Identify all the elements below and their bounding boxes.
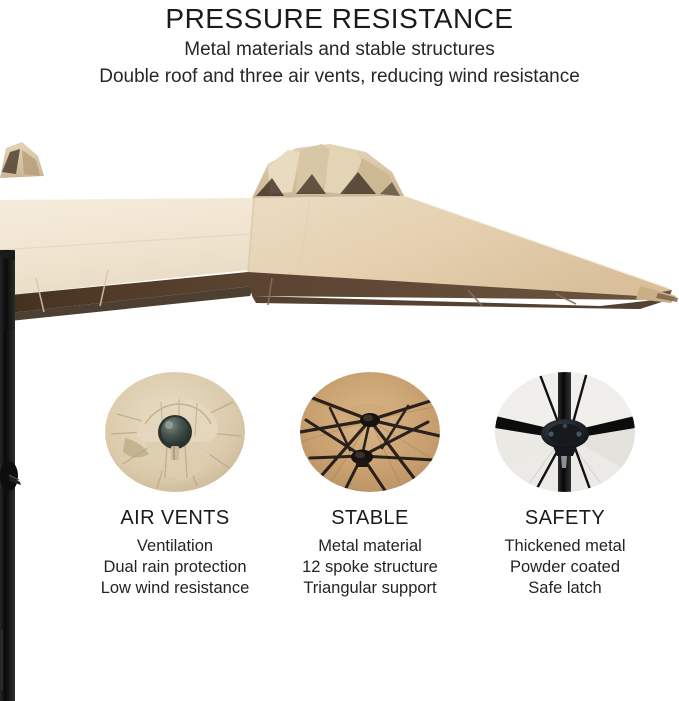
air-vent-closeup-image [105, 372, 245, 492]
header: PRESSURE RESISTANCE Metal materials and … [0, 0, 679, 90]
feature-line: Dual rain protection [80, 557, 270, 578]
feature-description: Ventilation Dual rain protection Low win… [80, 536, 270, 599]
page-title: PRESSURE RESISTANCE [0, 2, 679, 36]
feature-line: Metal material [275, 536, 465, 557]
feature-description: Metal material 12 spoke structure Triang… [275, 536, 465, 599]
subtitle-line-1: Metal materials and stable structures [0, 37, 679, 63]
feature-line: Safe latch [470, 578, 660, 599]
feature-line: 12 spoke structure [275, 557, 465, 578]
umbrella-ribs-underside-image [300, 372, 440, 492]
feature-description: Thickened metal Powder coated Safe latch [470, 536, 660, 599]
feature-line: Triangular support [275, 578, 465, 599]
feature-line: Thickened metal [470, 536, 660, 557]
feature-row: AIR VENTS Ventilation Dual rain protecti… [0, 368, 679, 618]
feature-line: Low wind resistance [80, 578, 270, 599]
feature-title: AIR VENTS [80, 506, 270, 530]
feature-air-vents: AIR VENTS Ventilation Dual rain protecti… [80, 368, 270, 599]
subtitle-line-2: Double roof and three air vents, reducin… [0, 64, 679, 90]
feature-line: Powder coated [470, 557, 660, 578]
metal-hub-joint-image [495, 372, 635, 492]
feature-line: Ventilation [80, 536, 270, 557]
feature-title: STABLE [275, 506, 465, 530]
feature-stable: STABLE Metal material 12 spoke structure… [275, 368, 465, 599]
product-photo-umbrella [0, 100, 679, 365]
product-infographic: PRESSURE RESISTANCE Metal materials and … [0, 0, 679, 701]
feature-title: SAFETY [470, 506, 660, 530]
feature-safety: SAFETY Thickened metal Powder coated Saf… [470, 368, 660, 599]
